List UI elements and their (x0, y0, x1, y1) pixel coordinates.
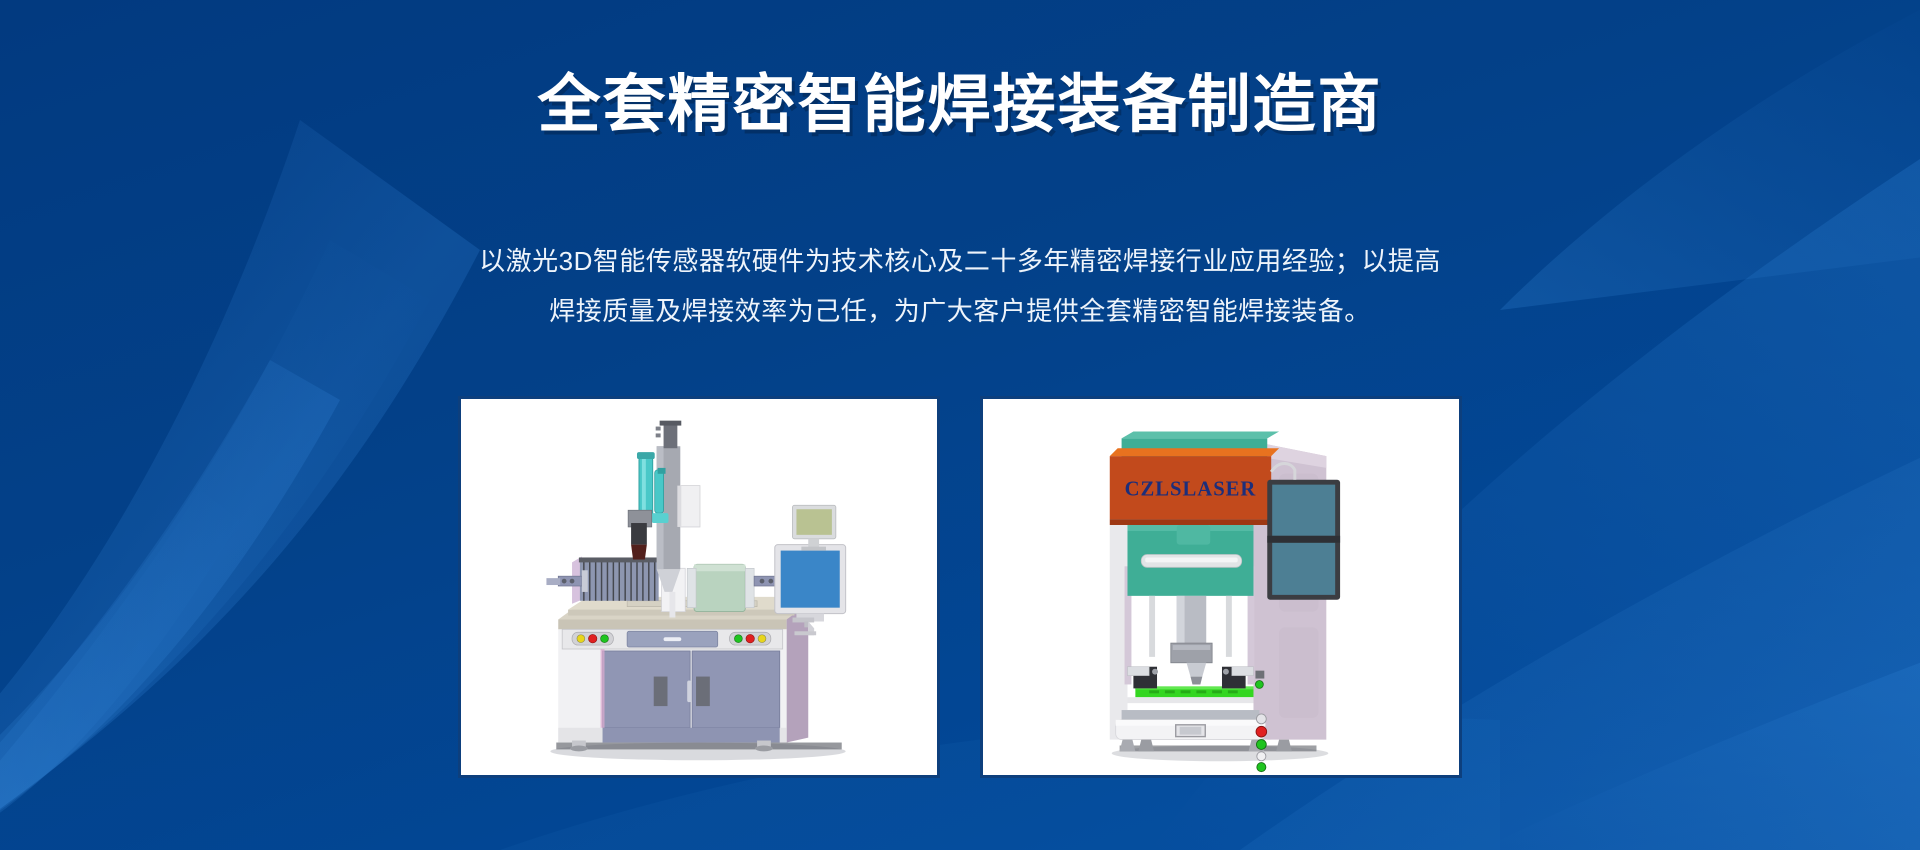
bench-type-laser-welding-machine-illustration (461, 399, 937, 775)
machine-brand-label: CZLSLASER (1125, 478, 1257, 500)
product-gallery: CZLSLASER (458, 396, 1462, 778)
product-card-precision-laser-welding-workstation[interactable] (458, 396, 940, 778)
subtitle-line-1: 以激光3D智能传感器软硬件为技术核心及二十多年精密焊接行业应用经验；以提高 (400, 237, 1520, 287)
hero-subtitle: 以激光3D智能传感器软硬件为技术核心及二十多年精密焊接行业应用经验；以提高 焊接… (400, 237, 1520, 337)
page-title: 全套精密智能焊接装备制造商 (0, 68, 1920, 142)
subtitle-line-2: 焊接质量及焊接效率为己任，为广大客户提供全套精密智能焊接装备。 (400, 287, 1520, 337)
hero-banner: 全套精密智能焊接装备制造商 以激光3D智能传感器软硬件为技术核心及二十多年精密焊… (0, 0, 1920, 850)
cabinet-type-laser-welding-machine-illustration: CZLSLASER (983, 399, 1459, 775)
product-card-enclosed-laser-welding-cabinet[interactable]: CZLSLASER (980, 396, 1462, 778)
